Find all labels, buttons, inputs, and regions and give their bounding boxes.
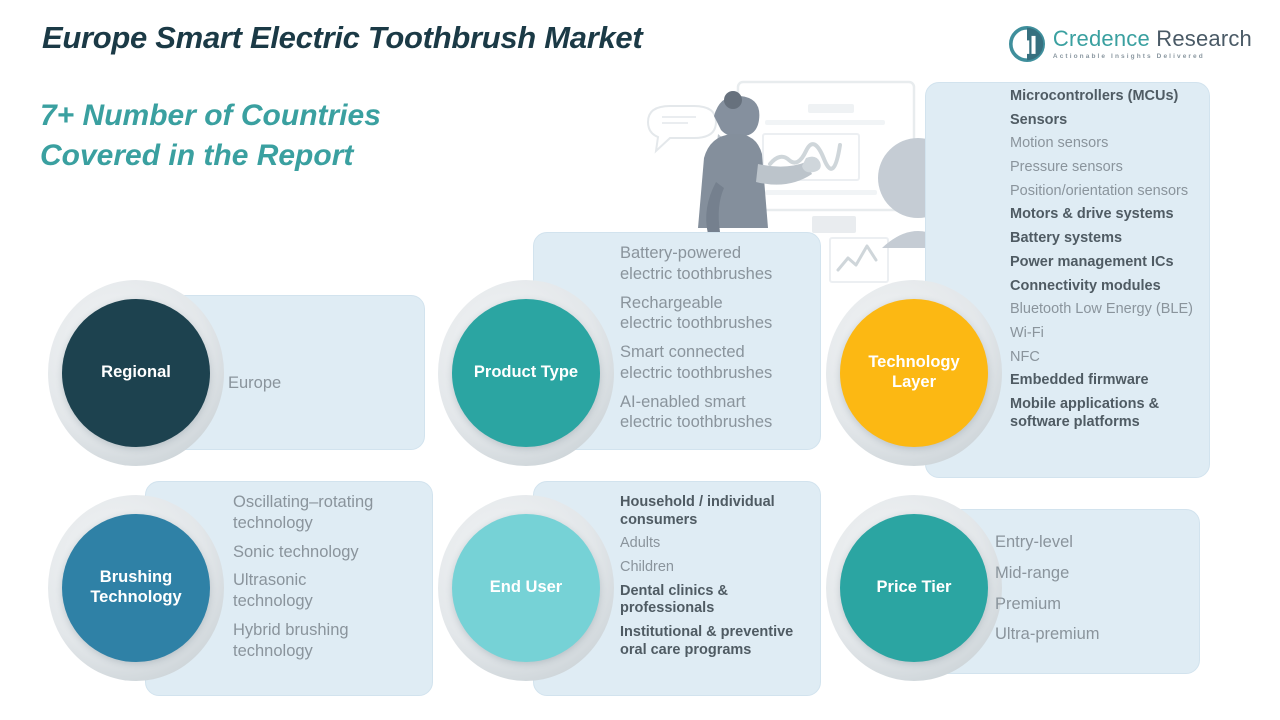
bar-chart-logo-icon [1009,26,1045,62]
list-item: Sensors [1010,112,1242,130]
list-item: Ultrasonic technology [233,570,433,612]
logo-name-secondary: Research [1150,26,1252,51]
list-item: Pressure sensors [1010,159,1242,177]
segment-price-tier-items: Entry-level Mid-range Premium Ultra-prem… [995,532,1185,655]
list-item: Smart connected electric toothbrushes [620,342,835,384]
segment-product-type-items: Battery-powered electric toothbrushes Re… [620,243,835,441]
list-item: Oscillating–rotating technology [233,492,433,534]
list-item: Battery-powered electric toothbrushes [620,243,835,285]
logo-tagline: Actionable Insights Delivered [1053,54,1252,61]
list-item: Power management ICs [1010,254,1242,272]
list-item: Bluetooth Low Energy (BLE) [1010,301,1242,319]
list-item: Embedded firmware [1010,372,1242,390]
list-item: Ultra-premium [995,624,1185,645]
list-item: Europe [228,373,418,394]
segment-regional-circle[interactable]: Regional [62,299,210,447]
segment-product-type-circle[interactable]: Product Type [452,299,600,447]
segment-price-tier-circle[interactable]: Price Tier [840,514,988,662]
segment-regional-items: Europe [228,373,418,394]
list-item: Adults [620,535,825,553]
list-item: Rechargeable electric toothbrushes [620,293,835,335]
list-item: Mobile applications & software platforms [1010,396,1242,431]
infographic-canvas: Europe Smart Electric Toothbrush Market … [0,0,1280,720]
segment-brushing-technology-items: Oscillating–rotating technology Sonic te… [233,492,433,669]
page-subtitle: 7+ Number of Countries Covered in the Re… [40,96,381,176]
list-item: Battery systems [1010,230,1242,248]
list-item: Entry-level [995,532,1185,553]
list-item: Premium [995,594,1185,615]
list-item: AI-enabled smart electric toothbrushes [620,392,835,434]
list-item: Sonic technology [233,542,433,563]
segment-technology-layer-circle[interactable]: Technology Layer [840,299,988,447]
list-item: Microcontrollers (MCUs) [1010,88,1242,106]
segment-brushing-technology-circle[interactable]: Brushing Technology [62,514,210,662]
segment-end-user-circle[interactable]: End User [452,514,600,662]
segment-technology-layer-items: Microcontrollers (MCUs) Sensors Motion s… [1010,88,1242,437]
list-item: Motion sensors [1010,135,1242,153]
logo-name-primary: Credence [1053,26,1150,51]
brand-logo: Credence Research Actionable Insights De… [1009,26,1252,62]
list-item: Position/orientation sensors [1010,183,1242,201]
page-title: Europe Smart Electric Toothbrush Market [42,20,642,56]
list-item: Motors & drive systems [1010,206,1242,224]
list-item: NFC [1010,349,1242,367]
segment-end-user-items: Household / individual consumers Adults … [620,494,825,666]
list-item: Connectivity modules [1010,278,1242,296]
list-item: Hybrid brushing technology [233,620,433,662]
list-item: Children [620,559,825,577]
list-item: Mid-range [995,563,1185,584]
list-item: Dental clinics & professionals [620,583,825,618]
list-item: Institutional & preventive oral care pro… [620,624,825,659]
logo-wordmark: Credence Research Actionable Insights De… [1053,28,1252,61]
list-item: Wi-Fi [1010,325,1242,343]
list-item: Household / individual consumers [620,494,825,529]
